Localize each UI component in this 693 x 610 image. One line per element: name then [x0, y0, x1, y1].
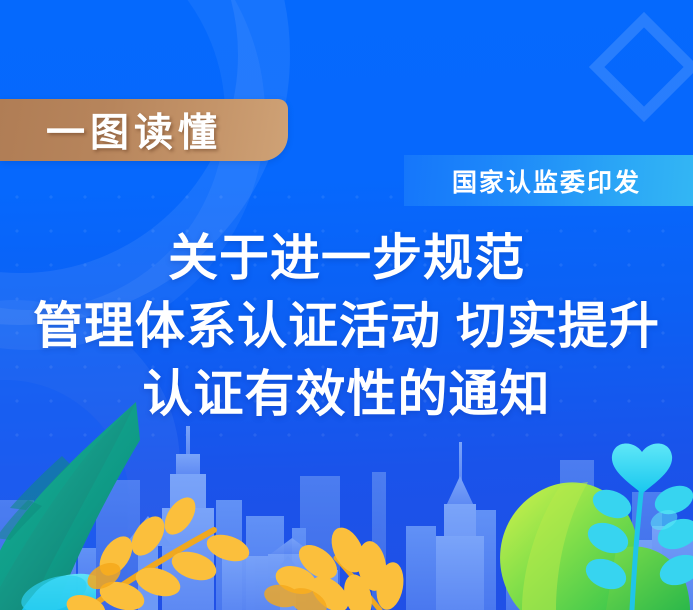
- diamond-outline-icon: [589, 12, 693, 122]
- page-title: 关于进一步规范 管理体系认证活动 切实提升 认证有效性的通知: [0, 224, 693, 428]
- poster-canvas: 一图读懂 国家认监委印发 关于进一步规范 管理体系认证活动 切实提升 认证有效性…: [0, 0, 693, 610]
- title-line-2: 管理体系认证活动 切实提升: [0, 292, 693, 360]
- yitu-dudong-banner: 一图读懂: [0, 99, 288, 161]
- issuer-ribbon: 国家认监委印发: [404, 155, 693, 206]
- title-line-3: 认证有效性的通知: [0, 360, 693, 428]
- banner-label: 一图读懂: [46, 102, 222, 158]
- heart-leaf-icon: [612, 443, 672, 494]
- issuer-label: 国家认监委印发: [452, 163, 641, 199]
- gold-branch-right: [262, 522, 407, 610]
- title-line-1: 关于进一步规范: [0, 224, 693, 292]
